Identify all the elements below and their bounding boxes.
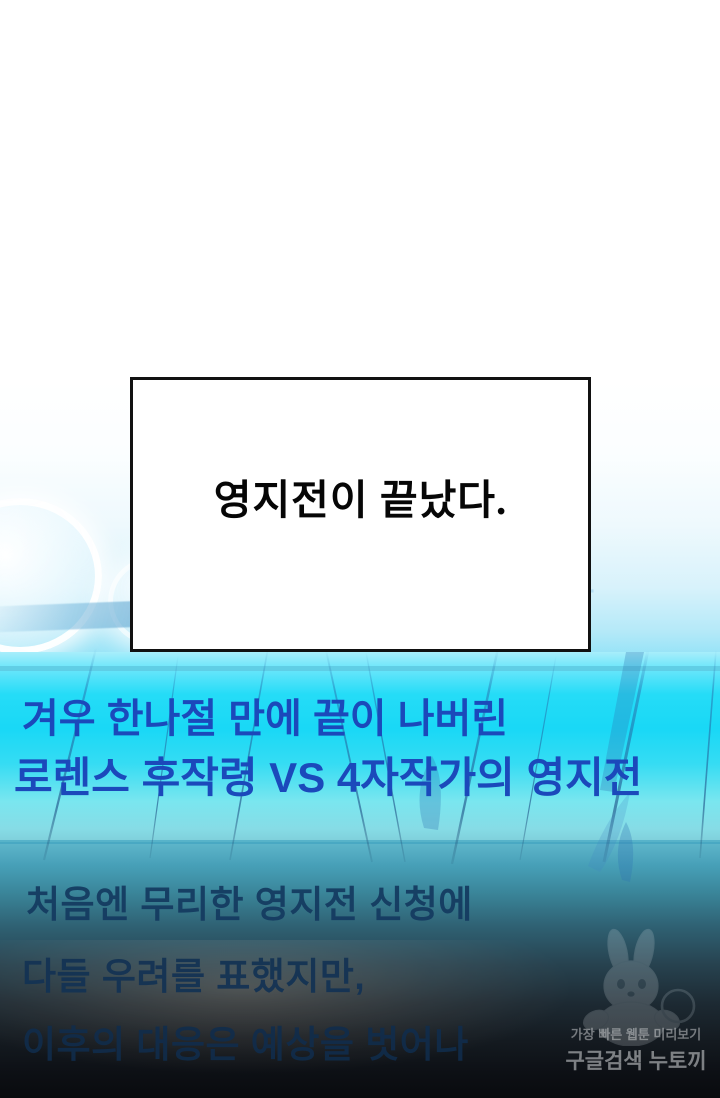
panel-dialogue-text: 영지전이 끝났다. xyxy=(214,466,508,526)
narration-line-2: 다들 우려를 표했지만, xyxy=(22,946,365,1000)
cyan-band-bottom-rule xyxy=(0,840,720,844)
headline-line-2: 로렌스 후작령 VS 4자작가의 영지전 xyxy=(14,744,642,805)
dialogue-panel: 영지전이 끝났다. xyxy=(130,377,591,652)
narration-line-1: 처음엔 무리한 영지전 신청에 xyxy=(26,874,473,928)
headline-line-1: 겨우 한나절 만에 끝이 나버린 xyxy=(22,686,508,744)
background-white-top xyxy=(0,0,720,420)
narration-line-3: 이후의 대응은 예상을 벗어나 xyxy=(22,1014,469,1068)
webtoon-page: 영지전에 다소 무리였던 것 아니냐며 왕 영지전이 끝났다. 겨우 한나절 만… xyxy=(0,0,720,1098)
cyan-band-top-rule xyxy=(0,666,720,671)
